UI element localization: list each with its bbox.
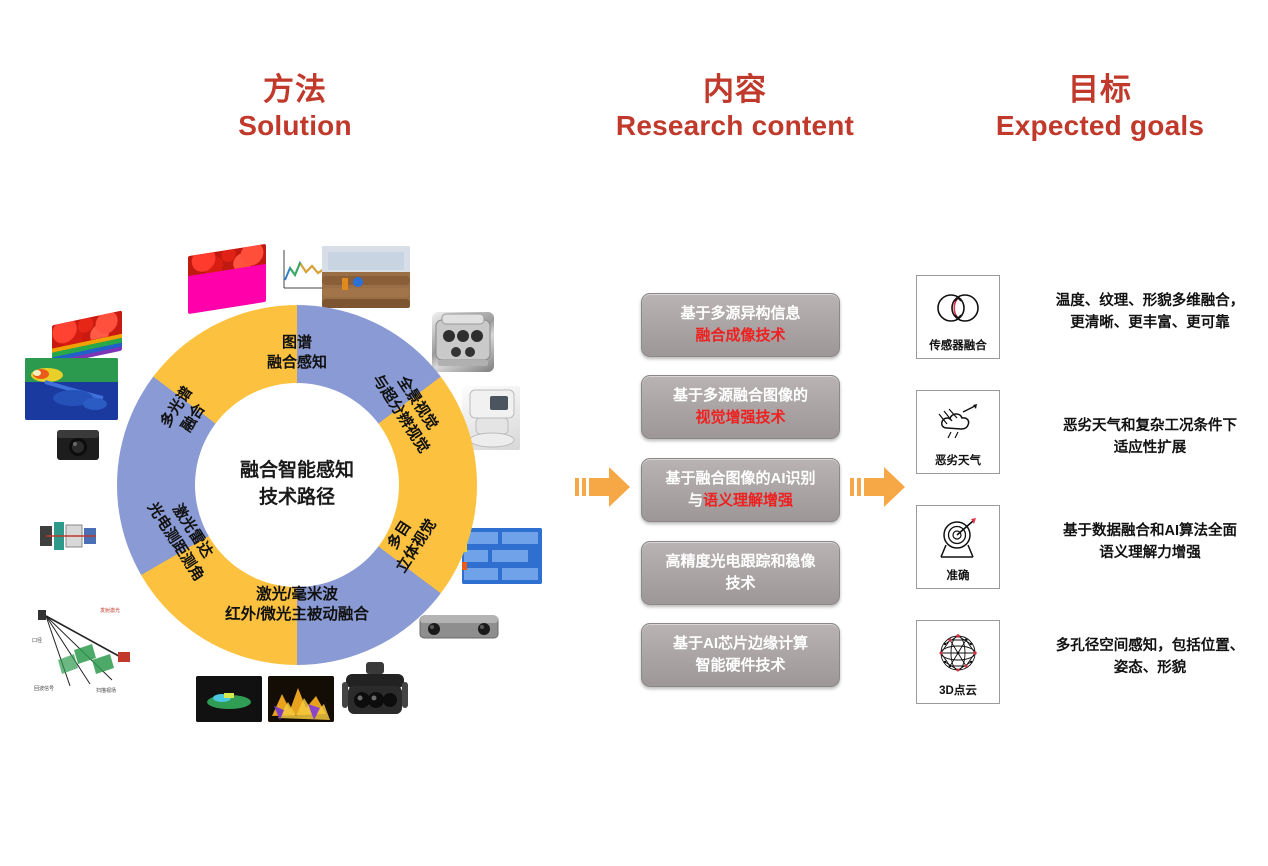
hyperspectral-cube-thumb [188, 244, 266, 314]
research-box-3-line2-wrap: 与语义理解增强 [665, 490, 815, 512]
column-header-content: 内容 Research content [560, 72, 910, 142]
research-box-2-line1: 基于多源融合图像的 [673, 385, 808, 407]
research-box-5-line1: 基于AI芯片边缘计算 [673, 633, 808, 655]
research-box-4[interactable]: 高精度光电跟踪和稳像 技术 [641, 541, 840, 605]
goal-text-bad-weather: 恶劣天气和复杂工况条件下 适应性扩展 [1035, 416, 1265, 460]
bad-weather-icon [917, 391, 999, 456]
research-box-1[interactable]: 基于多源异构信息 融合成像技术 [641, 293, 840, 357]
goal-text-sensor-fusion: 温度、纹理、形貌多维融合， 更清晰、更丰富、更可靠 [1035, 291, 1265, 335]
black-camera-thumb [54, 424, 102, 464]
research-box-3-line1: 基于融合图像的AI识别 [665, 468, 815, 490]
goal-card-sensor-fusion-label: 传感器融合 [929, 341, 987, 353]
donut-segment-top-line2: 融合感知 [232, 353, 362, 373]
thermal-scene-image-thumb [268, 676, 334, 722]
arrow-solution-to-content [575, 462, 631, 512]
research-box-1-line1: 基于多源异构信息 [680, 303, 800, 325]
goal-text-sensor-fusion-line1: 温度、纹理、形貌多维融合， [1035, 291, 1265, 313]
research-box-2[interactable]: 基于多源融合图像的 视觉增强技术 [641, 375, 840, 439]
goal-card-bad-weather-label: 恶劣天气 [935, 456, 981, 468]
research-box-4-line2: 技术 [665, 573, 815, 595]
diagram-canvas: 方法 Solution 内容 Research content 目标 Expec… [0, 0, 1268, 866]
slab-top-face [52, 311, 122, 349]
column-header-solution: 方法 Solution [160, 72, 430, 142]
gimbal-eo-turret-thumb [338, 660, 412, 726]
goal-card-point-cloud[interactable]: 3D点云 [916, 620, 1000, 704]
research-box-5[interactable]: 基于AI芯片边缘计算 智能硬件技术 [641, 623, 840, 687]
donut-center-line2: 技术路径 [259, 485, 335, 512]
research-box-3-line2-prefix: 与 [688, 492, 703, 509]
goal-text-point-cloud: 多孔径空间感知，包括位置、 姿态、形貌 [1035, 636, 1265, 680]
industrial-pipeline-photo-thumb [322, 246, 410, 308]
research-box-1-line2: 融合成像技术 [680, 325, 800, 347]
research-box-5-text: 基于AI芯片边缘计算 智能硬件技术 [673, 633, 808, 677]
goal-text-accuracy: 基于数据融合和AI算法全面 语义理解力增强 [1035, 521, 1265, 565]
goal-text-point-cloud-line1: 多孔径空间感知，包括位置、 [1035, 636, 1265, 658]
goal-text-accuracy-line1: 基于数据融合和AI算法全面 [1035, 521, 1265, 543]
research-box-1-text: 基于多源异构信息 融合成像技术 [680, 303, 800, 347]
donut-center-label: 融合智能感知 技术路径 [195, 383, 399, 587]
svg-text:口径: 口径 [32, 637, 42, 644]
goal-card-accuracy-label: 准确 [947, 571, 970, 583]
svg-text:回波信号: 回波信号 [34, 685, 54, 692]
research-box-2-text: 基于多源融合图像的 视觉增强技术 [673, 385, 808, 429]
research-box-3[interactable]: 基于融合图像的AI识别 与语义理解增强 [641, 458, 840, 522]
donut-segment-top-line1: 图谱 [232, 333, 362, 353]
technology-roadmap-donut: 融合智能感知 技术路径 图谱 融合感知 全景视觉 与超分辨视觉 多目 立体视觉 … [117, 305, 477, 665]
arrow-content-to-goals [850, 462, 906, 512]
night-vision-image-thumb [196, 676, 262, 722]
research-box-2-line2: 视觉增强技术 [673, 407, 808, 429]
column-header-solution-en: Solution [160, 109, 430, 142]
goal-card-sensor-fusion[interactable]: 传感器融合 [916, 275, 1000, 359]
column-header-goals-cn: 目标 [940, 72, 1260, 109]
cube-top-face [188, 244, 266, 276]
goal-card-accuracy[interactable]: 准确 [916, 505, 1000, 589]
research-box-4-line1: 高精度光电跟踪和稳像 [665, 551, 815, 573]
research-box-4-text: 高精度光电跟踪和稳像 技术 [665, 551, 815, 595]
donut-center-line1: 融合智能感知 [240, 458, 354, 485]
svg-text:扫描视场: 扫描视场 [96, 687, 116, 694]
goal-card-point-cloud-label: 3D点云 [939, 686, 977, 698]
target-accuracy-icon [917, 506, 999, 571]
goal-text-accuracy-line2: 语义理解力增强 [1035, 543, 1265, 565]
research-box-3-line2: 语义理解增强 [703, 492, 793, 509]
goal-card-bad-weather[interactable]: 恶劣天气 [916, 390, 1000, 474]
column-header-solution-cn: 方法 [160, 72, 430, 109]
goal-text-bad-weather-line2: 适应性扩展 [1035, 438, 1265, 460]
goal-text-sensor-fusion-line2: 更清晰、更丰富、更可靠 [1035, 313, 1265, 335]
research-box-5-line2: 智能硬件技术 [673, 655, 808, 677]
donut-segment-bottom-line2: 红外/微光主被动融合 [177, 605, 417, 625]
column-header-content-en: Research content [560, 109, 910, 142]
column-header-goals-en: Expected goals [940, 109, 1260, 142]
column-header-goals: 目标 Expected goals [940, 72, 1260, 142]
point-cloud-icon [917, 621, 999, 686]
thermal-infrared-image-thumb [25, 358, 118, 420]
column-header-content-cn: 内容 [560, 72, 910, 109]
goal-text-bad-weather-line1: 恶劣天气和复杂工况条件下 [1035, 416, 1265, 438]
laser-optics-module-thumb [38, 512, 100, 560]
goal-text-point-cloud-line2: 姿态、形貌 [1035, 658, 1265, 680]
research-box-3-text: 基于融合图像的AI识别 与语义理解增强 [665, 468, 815, 512]
sensor-fusion-icon [917, 276, 999, 341]
donut-segment-top[interactable]: 图谱 融合感知 [232, 333, 362, 372]
